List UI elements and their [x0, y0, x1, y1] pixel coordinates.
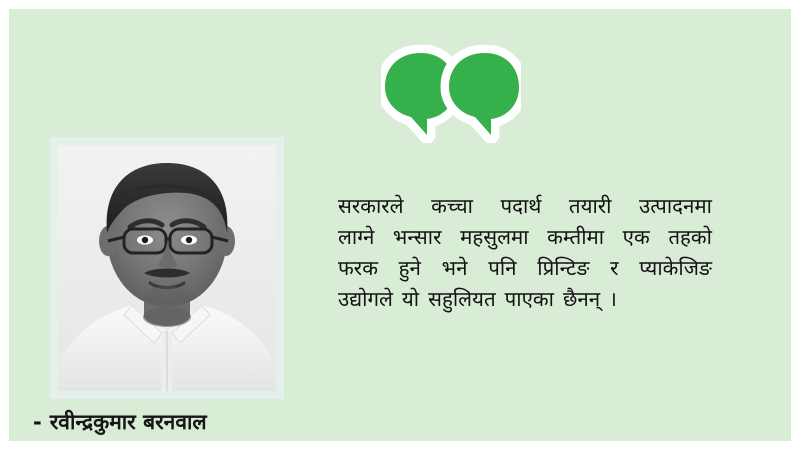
quote-word: प्याकेजिङ [639, 253, 712, 284]
quote-word: लाग्ने [338, 222, 374, 253]
quote-word: हुने [399, 253, 421, 284]
attribution: - रवीन्द्रकुमार बरनवाल [33, 405, 363, 439]
quote-word: छैनन् [563, 284, 600, 315]
quote-word: पनि [488, 253, 516, 284]
double-quote-icon [381, 45, 521, 143]
quote-right-shape [449, 53, 519, 135]
quote-word: सहुलियत [428, 284, 496, 315]
attribution-dash: - [33, 412, 42, 433]
quote-word: । [609, 284, 617, 315]
quote-line-2: लाग्नेभन्सारमहसुलमाकम्तीमाएकतहको [338, 222, 712, 253]
quote-word: उत्पादनमा [639, 191, 712, 222]
portrait-photo [58, 145, 276, 391]
quote-word: भन्सार [393, 222, 442, 253]
quote-word: भने [442, 253, 468, 284]
quote-word: फरक [338, 253, 378, 284]
quote-word: यो [402, 284, 419, 315]
quote-word: सरकारले [338, 191, 404, 222]
quote-word: तहको [668, 222, 712, 253]
quote-word: कम्तीमा [547, 222, 604, 253]
quote-word: तयारी [569, 191, 612, 222]
quote-word: पाएका [505, 284, 554, 315]
quote-line-1: सरकारलेकच्चापदार्थतयारीउत्पादनमा [338, 191, 712, 222]
quote-word: महसुलमा [460, 222, 528, 253]
quote-word: एक [623, 222, 650, 253]
quote-word: र [610, 253, 618, 284]
attribution-name: रवीन्द्रकुमार बरनवाल [50, 412, 207, 433]
quote-word: कच्चा [431, 191, 473, 222]
quote-card-canvas: सरकारलेकच्चापदार्थतयारीउत्पादनमा लाग्नेभ… [0, 0, 800, 450]
quote-card: सरकारलेकच्चापदार्थतयारीउत्पादनमा लाग्नेभ… [9, 9, 791, 441]
quote-line-4: उद्योगलेयोसहुलियतपाएकाछैनन्। [338, 284, 712, 315]
quote-word: प्रिन्टिङ [537, 253, 589, 284]
quote-line-3: फरकहुनेभनेपनिप्रिन्टिङरप्याकेजिङ [338, 253, 712, 284]
quote-text: सरकारलेकच्चापदार्थतयारीउत्पादनमा लाग्नेभ… [338, 191, 712, 315]
quote-word: उद्योगले [338, 284, 393, 315]
quote-word: पदार्थ [500, 191, 541, 222]
